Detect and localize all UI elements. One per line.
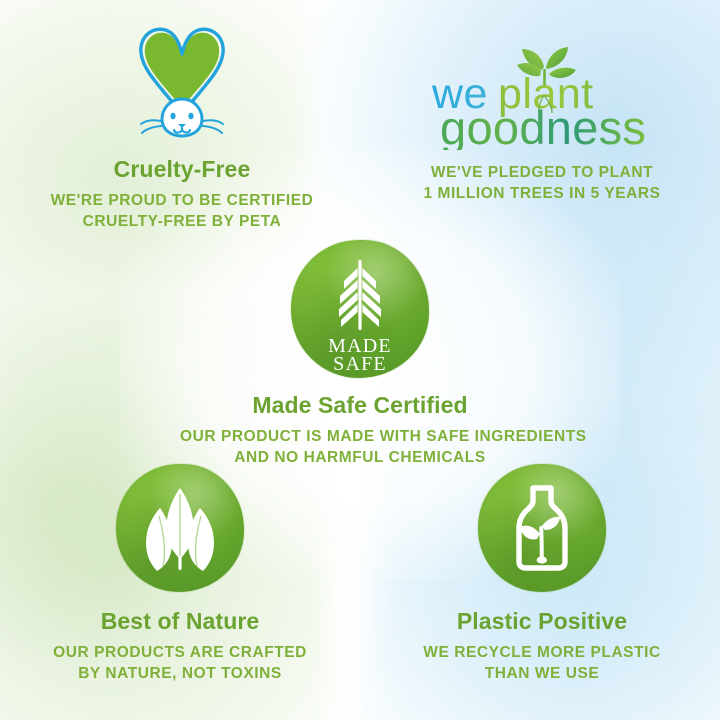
bottle-sprout-badge-icon [478,464,606,592]
made-safe-badge-line2: SAFE [333,353,387,375]
we-plant-goodness-logo-icon: we plant goodness [426,40,658,150]
made-safe-leaf-badge-icon: MADE SAFE [291,240,429,378]
claim-plastic-positive: Plastic Positive WE RECYCLE MORE PLASTIC… [372,464,712,684]
claim-body-line: THAN WE USE [372,663,712,684]
claim-title: Plastic Positive [372,608,712,635]
logo-word-goodness: goodness [440,101,646,150]
eco-claims-infographic: Cruelty-Free WE'RE PROUD TO BE CERTIFIED… [0,0,720,720]
claim-body: WE'VE PLEDGED TO PLANT 1 MILLION TREES I… [372,162,712,204]
claim-body-line: CRUELTY-FREE BY PETA [12,211,352,232]
claim-best-of-nature: Best of Nature OUR PRODUCTS ARE CRAFTED … [10,464,350,684]
claim-body: WE'RE PROUD TO BE CERTIFIED CRUELTY-FREE… [12,190,352,232]
claim-made-safe: MADE SAFE Made Safe Certified OUR PRODUC… [180,240,540,468]
claim-we-plant-goodness: we plant goodness WE'VE PLEDGED TO PLANT… [372,40,712,204]
claim-body: OUR PRODUCT IS MADE WITH SAFE INGREDIENT… [180,426,540,468]
claim-cruelty-free: Cruelty-Free WE'RE PROUD TO BE CERTIFIED… [12,22,352,232]
claim-body-line: BY NATURE, NOT TOXINS [10,663,350,684]
claim-body-line: WE'RE PROUD TO BE CERTIFIED [12,190,352,211]
claim-body-line: WE RECYCLE MORE PLASTIC [372,642,712,663]
three-leaves-badge-icon [116,464,244,592]
claim-title: Cruelty-Free [12,156,352,183]
claim-body: OUR PRODUCTS ARE CRAFTED BY NATURE, NOT … [10,642,350,684]
claim-body-line: 1 MILLION TREES IN 5 YEARS [372,183,712,204]
claim-title: Best of Nature [10,608,350,635]
claim-title: Made Safe Certified [180,392,540,419]
claim-body-line: OUR PRODUCT IS MADE WITH SAFE INGREDIENT… [180,426,540,447]
claim-body-line: WE'VE PLEDGED TO PLANT [372,162,712,183]
claim-body-line: OUR PRODUCTS ARE CRAFTED [10,642,350,663]
claim-body: WE RECYCLE MORE PLASTIC THAN WE USE [372,642,712,684]
peta-bunny-logo-icon [123,22,241,142]
